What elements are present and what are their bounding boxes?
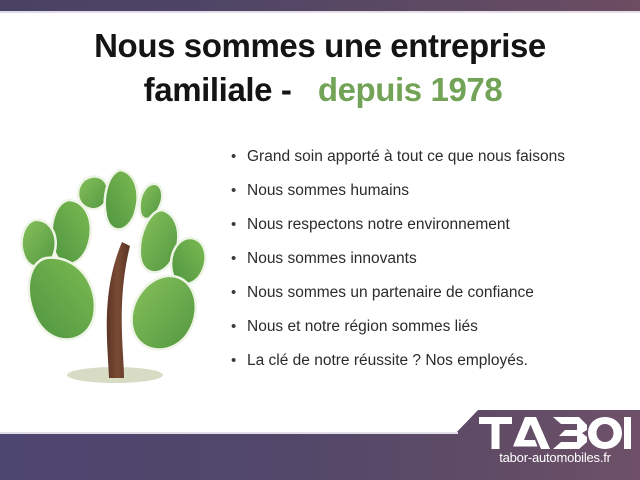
bullet-marker-icon: • <box>231 249 247 269</box>
list-item-label: Nous sommes innovants <box>247 249 417 269</box>
list-item: • Grand soin apporté à tout ce que nous … <box>231 147 631 181</box>
list-item-label: Nous sommes un partenaire de confiance <box>247 283 534 303</box>
title-line-1: Nous sommes une entreprise <box>0 24 640 68</box>
list-item: • Nous et notre région sommes liés <box>231 317 631 351</box>
top-accent-bar <box>0 0 640 11</box>
list-item: • Nous sommes un partenaire de confiance <box>231 283 631 317</box>
title-line-2-plain: familiale - <box>144 71 292 108</box>
list-item-label: Nous respectons notre environnement <box>247 215 510 235</box>
bullet-marker-icon: • <box>231 147 247 167</box>
title-line-2: familiale - depuis 1978 <box>0 68 640 112</box>
list-item: • Nous sommes humains <box>231 181 631 215</box>
list-item-label: La clé de notre réussite ? Nos employés. <box>247 351 528 371</box>
list-item: • Nous respectons notre environnement <box>231 215 631 249</box>
bullet-marker-icon: • <box>231 181 247 201</box>
title-line-2-accent: depuis 1978 <box>318 71 503 108</box>
tree-trunk <box>107 242 130 378</box>
list-item-label: Grand soin apporté à tout ce que nous fa… <box>247 147 565 167</box>
page-title: Nous sommes une entreprise familiale - d… <box>0 24 640 112</box>
list-item-label: Nous sommes humains <box>247 181 409 201</box>
list-item: • Nous sommes innovants <box>231 249 631 283</box>
list-item-label: Nous et notre région sommes liés <box>247 317 478 337</box>
benefits-list: • Grand soin apporté à tout ce que nous … <box>231 147 631 385</box>
tree-illustration <box>12 142 218 390</box>
footer-hairline <box>0 432 458 434</box>
list-item: • La clé de notre réussite ? Nos employé… <box>231 351 631 385</box>
logo-tagline: tabor-automobiles.fr <box>479 450 631 465</box>
tabor-logo[interactable]: tabor-automobiles.fr <box>479 416 631 474</box>
bullet-marker-icon: • <box>231 317 247 337</box>
footer-bar: tabor-automobiles.fr <box>0 404 640 480</box>
tabor-wordmark-icon <box>479 416 631 450</box>
slide-canvas: Nous sommes une entreprise familiale - d… <box>0 0 640 480</box>
bullet-marker-icon: • <box>231 215 247 235</box>
top-accent-hairline <box>0 11 640 13</box>
bullet-marker-icon: • <box>231 283 247 303</box>
bullet-marker-icon: • <box>231 351 247 371</box>
